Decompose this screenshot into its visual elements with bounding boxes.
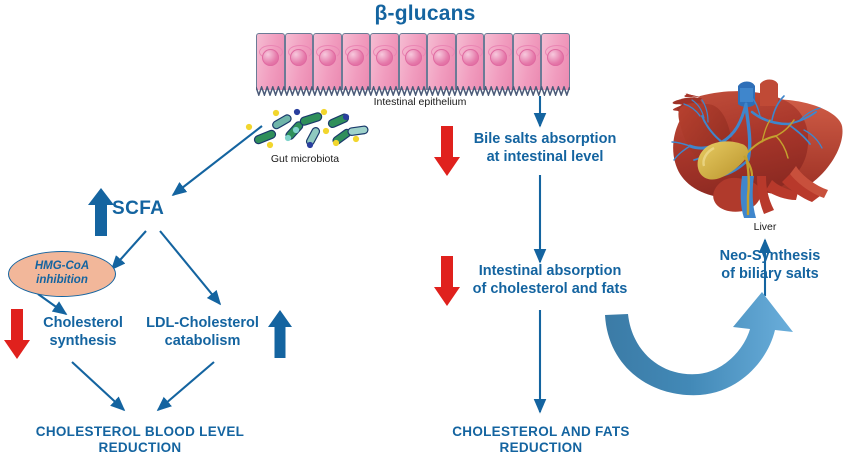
- cholesterol-synthesis-down-arrow-icon: [4, 309, 30, 359]
- arrow-scfa-to-hmgcoa: [112, 231, 146, 269]
- arrow-scfa-to-ldl: [160, 231, 220, 304]
- arrow-hmgcoa-to-synthesis: [38, 294, 66, 314]
- liver-graphic: [672, 80, 843, 219]
- bile-salts-down-arrow-icon: [434, 126, 460, 176]
- scfa-label: SCFA: [112, 197, 202, 220]
- curved-return-arrow: [605, 292, 793, 395]
- hmg-coa-inhibition-node: HMG-CoA inhibition: [8, 251, 116, 297]
- arrow-ldl-to-conclusion: [158, 362, 214, 410]
- arrow-synthesis-to-conclusion: [72, 362, 124, 410]
- neo-synthesis-label: Neo-Synthesis of biliary salts: [694, 248, 846, 283]
- diagram-canvas: β-glucans Intestinal epithelium: [0, 0, 850, 466]
- scfa-up-arrow-icon: [88, 188, 114, 236]
- cholesterol-fats-reduction-label: CHOLESTEROL AND FATS REDUCTION: [432, 424, 650, 457]
- ldl-catabolism-up-arrow-icon: [268, 310, 292, 358]
- liver-caption: Liver: [710, 221, 820, 234]
- ldl-cholesterol-catabolism-label: LDL-Cholesterol catabolism: [140, 315, 265, 350]
- arrow-microbiota-to-scfa: [173, 126, 262, 195]
- intestinal-absorption-label: Intestinal absorption of cholesterol and…: [464, 263, 636, 298]
- intestinal-absorption-down-arrow-icon: [434, 256, 460, 306]
- cholesterol-blood-level-reduction-label: CHOLESTEROL BLOOD LEVEL REDUCTION: [8, 424, 272, 457]
- cholesterol-synthesis-label: Cholesterol synthesis: [28, 315, 138, 350]
- hmg-coa-label: HMG-CoA inhibition: [35, 260, 89, 287]
- bile-salts-absorption-label: Bile salts absorption at intestinal leve…: [466, 131, 624, 166]
